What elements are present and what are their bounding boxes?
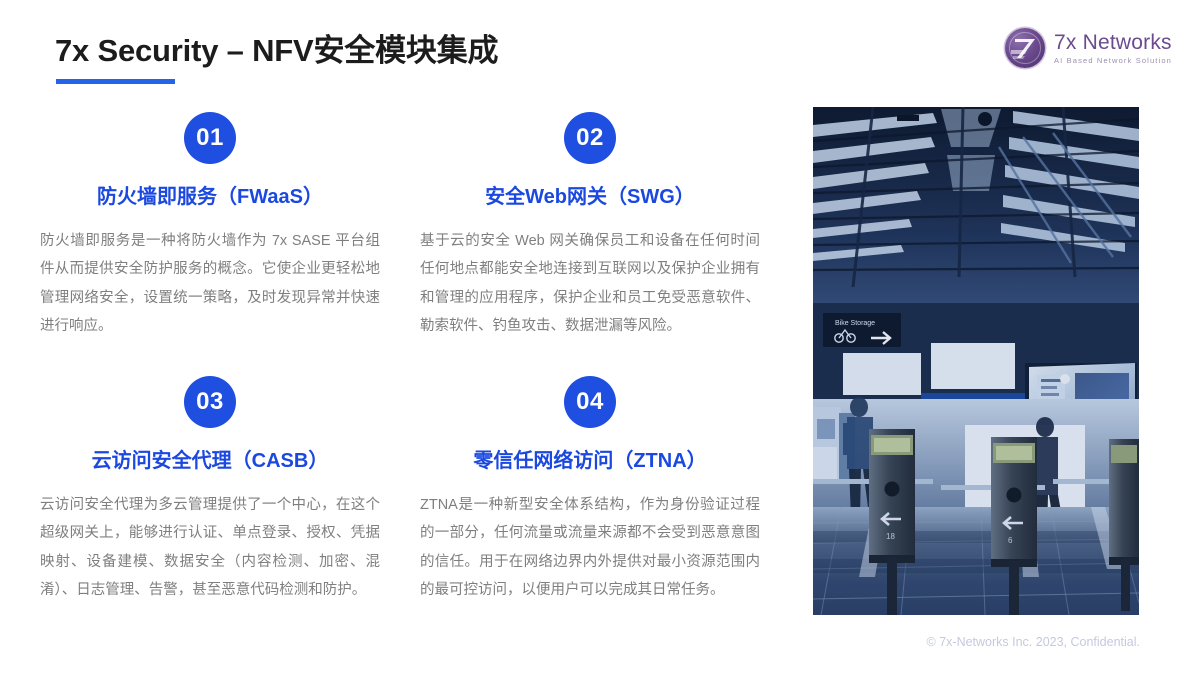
slide-header: 7x Security – NFV安全模块集成 7x Networks AI B… xyxy=(0,0,1200,100)
feature-title-04: 零信任网络访问（ZTNA） xyxy=(420,444,760,473)
footer-copyright: © 7x-Networks Inc. 2023, Confidential. xyxy=(927,635,1140,649)
feature-body-01: 防火墙即服务是一种将防火墙作为 7x SASE 平台组件从而提供安全防护服务的概… xyxy=(40,227,380,340)
7x-swoosh-logo-icon xyxy=(1005,28,1045,68)
feature-card-02: 02 安全Web网关（SWG） 基于云的安全 Web 网关确保员工和设备在任何时… xyxy=(420,112,760,340)
title-accent-bar xyxy=(56,79,175,84)
logo-name: 7x Networks xyxy=(1054,32,1172,53)
feature-title-03: 云访问安全代理（CASB） xyxy=(40,444,380,473)
feature-grid: 01 防火墙即服务（FWaaS） 防火墙即服务是一种将防火墙作为 7x SASE… xyxy=(0,112,800,604)
feature-body-03: 云访问安全代理为多云管理提供了一个中心，在这个超级网关上，能够进行认证、单点登录… xyxy=(40,491,380,604)
badge-number-02: 02 xyxy=(564,112,616,164)
badge-number-03: 03 xyxy=(184,376,236,428)
brand-logo: 7x Networks AI Based Network Solution xyxy=(1005,28,1172,68)
page-title: 7x Security – NFV安全模块集成 xyxy=(55,25,498,70)
badge-number-04: 04 xyxy=(564,376,616,428)
feature-body-02: 基于云的安全 Web 网关确保员工和设备在任何时间任何地点都能安全地连接到互联网… xyxy=(420,227,760,340)
feature-body-04: ZTNA是一种新型安全体系结构，作为身份验证过程的一部分，任何流量或流量来源都不… xyxy=(420,491,760,604)
logo-tagline: AI Based Network Solution xyxy=(1054,57,1172,65)
feature-card-04: 04 零信任网络访问（ZTNA） ZTNA是一种新型安全体系结构，作为身份验证过… xyxy=(420,376,760,604)
station-turnstiles-photo: Bike Storage 3 3 1 xyxy=(813,107,1139,615)
feature-title-01: 防火墙即服务（FWaaS） xyxy=(40,180,380,209)
badge-number-01: 01 xyxy=(184,112,236,164)
feature-card-01: 01 防火墙即服务（FWaaS） 防火墙即服务是一种将防火墙作为 7x SASE… xyxy=(40,112,380,340)
feature-title-02: 安全Web网关（SWG） xyxy=(420,180,760,209)
feature-card-03: 03 云访问安全代理（CASB） 云访问安全代理为多云管理提供了一个中心，在这个… xyxy=(40,376,380,604)
